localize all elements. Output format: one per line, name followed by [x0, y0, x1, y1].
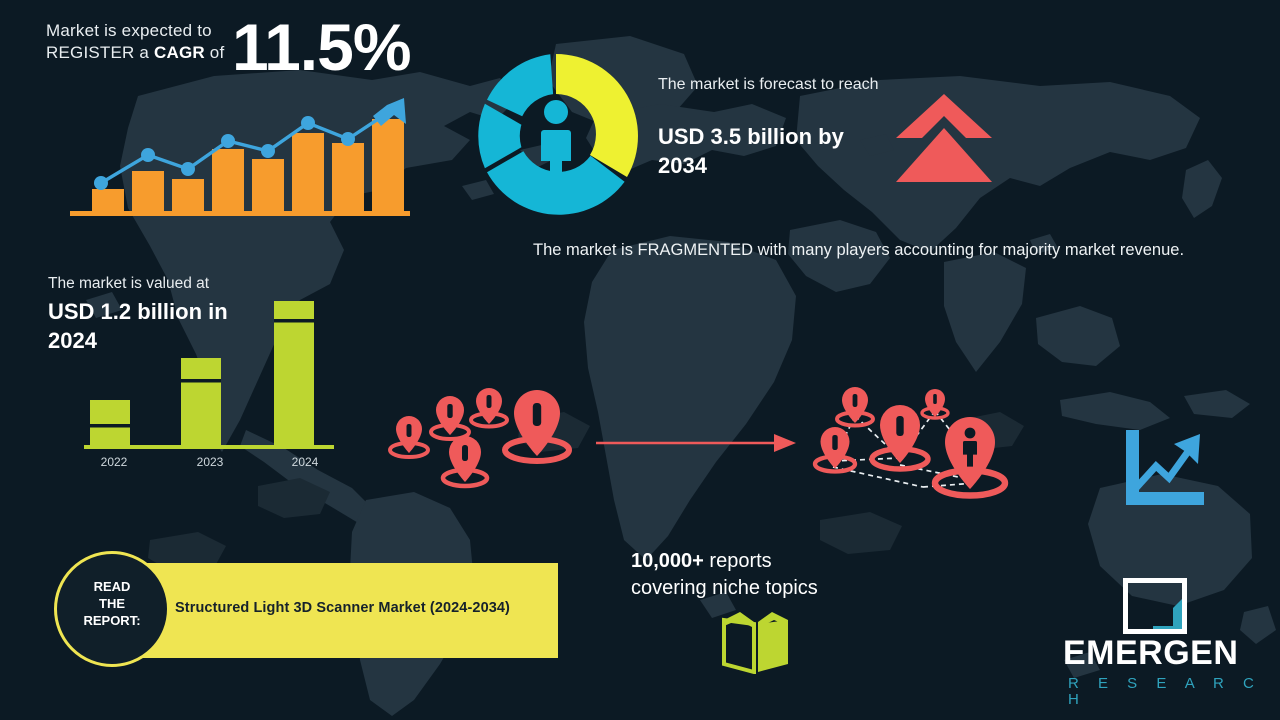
double-chevron-up-icon: [896, 94, 992, 182]
valuation-chart-baseline: [84, 445, 334, 449]
fragmentation-text: The market is FRAGMENTED with many playe…: [533, 238, 1223, 263]
badge-line1: READ: [94, 579, 131, 594]
forecast-lead-text: The market is forecast to reach: [658, 74, 898, 96]
reports-count-rest: reports: [704, 550, 772, 572]
growth-bar-chart: [70, 88, 410, 220]
valuation-tick-2024: 2024: [280, 455, 330, 469]
read-report-badge-text: READ THE REPORT:: [54, 578, 170, 629]
badge-line3: REPORT:: [83, 613, 140, 628]
map-pin-network-icon: [805, 383, 1013, 505]
growth-chart-baseline: [70, 211, 410, 216]
badge-line2: THE: [99, 596, 125, 611]
square-chart-logo-icon: [1123, 578, 1187, 634]
valuation-bar-chart: [84, 295, 334, 450]
report-ribbon-label: Structured Light 3D Scanner Market (2024…: [175, 600, 545, 616]
pin-network-pins: [815, 387, 1005, 496]
valuation-tick-2022: 2022: [89, 455, 139, 469]
valuation-tick-2023: 2023: [185, 455, 235, 469]
forecast-value-text: USD 3.5 billion by 2034: [658, 122, 888, 180]
cagr-lead-line1: Market is expected to: [46, 21, 212, 40]
cagr-lead-line2-post: of: [205, 43, 225, 62]
line-chart-arrow-up-icon: [1122, 430, 1204, 512]
cagr-lead-line2-pre: REGISTER a: [46, 43, 154, 62]
valuation-lead-text: The market is valued at: [48, 274, 288, 294]
reports-subtitle: covering niche topics: [631, 577, 818, 599]
valuation-chart-bars: [90, 301, 314, 445]
reports-count-number: 10,000+: [631, 550, 704, 572]
right-arrow-icon: [596, 432, 796, 454]
logo-subtitle: R E S E A R C H: [1068, 676, 1280, 708]
logo-name: EMERGEN: [1063, 636, 1238, 670]
donut-slice-4: [487, 54, 553, 116]
cagr-lead-bold: CAGR: [154, 43, 205, 62]
infographic-canvas: Market is expected to REGISTER a CAGR of…: [0, 0, 1280, 720]
open-book-icon: [720, 612, 792, 674]
market-share-donut: [470, 50, 642, 222]
map-pin-person-icon: [385, 388, 580, 498]
cagr-value: 11.5%: [232, 14, 411, 80]
reports-count-text: 10,000+ reports covering niche topics: [631, 548, 931, 602]
